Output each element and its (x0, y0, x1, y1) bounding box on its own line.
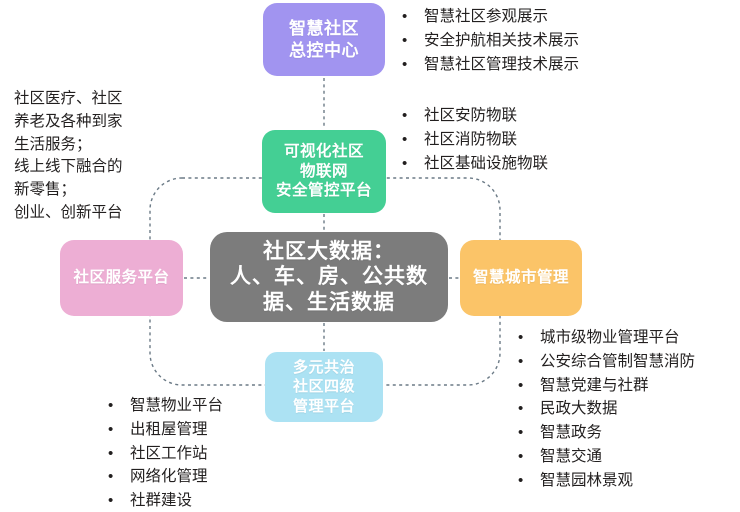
bullet-item-label: 社区基础设施物联 (424, 152, 548, 176)
bullet-dot-icon: • (402, 153, 424, 176)
node-smart-community-control-center[interactable]: 智慧社区 总控中心 (263, 3, 385, 76)
bullet-dot-icon: • (518, 470, 540, 493)
bullet-item: •城市级物业管理平台 (518, 326, 695, 350)
bullet-item: •智慧交通 (518, 445, 695, 469)
node-smart-city-management[interactable]: 智慧城市管理 (460, 240, 582, 316)
bullet-item-label: 智慧党建与社群 (540, 374, 649, 398)
bullet-dot-icon: • (518, 351, 540, 374)
bullet-item: •社区工作站 (108, 442, 223, 466)
node-label: 可视化社区 物联网 安全管控平台 (276, 142, 372, 201)
bullet-dot-icon: • (518, 327, 540, 350)
bullet-item-label: 安全护航相关技术展示 (424, 29, 579, 53)
bullet-item-label: 社区消防物联 (424, 128, 517, 152)
bullet-item-label: 社区安防物联 (424, 104, 517, 128)
node-label: 智慧城市管理 (473, 268, 569, 288)
bullet-item: •公安综合管制智慧消防 (518, 350, 695, 374)
bullet-item-label: 社区工作站 (130, 442, 208, 466)
node-label: 社区服务平台 (73, 268, 169, 288)
bullet-item: •社区基础设施物联 (402, 152, 548, 176)
bullet-item: •智慧园林景观 (518, 469, 695, 493)
bullet-item: •社区消防物联 (402, 128, 548, 152)
bullet-item: •智慧党建与社群 (518, 374, 695, 398)
bullet-dot-icon: • (108, 419, 130, 442)
bullet-item: •民政大数据 (518, 397, 695, 421)
bullet-dot-icon: • (518, 375, 540, 398)
bullet-dot-icon: • (108, 490, 130, 512)
bullet-list-governance: •智慧物业平台•出租屋管理•社区工作站•网络化管理•社群建设 (108, 394, 223, 512)
diagram-canvas: 智慧社区 总控中心 可视化社区 物联网 安全管控平台 社区服务平台 社区大数据：… (0, 0, 740, 512)
bullet-dot-icon: • (402, 30, 424, 53)
bullet-dot-icon: • (518, 446, 540, 469)
bullet-item-label: 网络化管理 (130, 465, 208, 489)
bullet-item: •安全护航相关技术展示 (402, 29, 579, 53)
bullet-item-label: 智慧社区参观展示 (424, 5, 548, 29)
bullet-dot-icon: • (402, 105, 424, 128)
bullet-dot-icon: • (108, 443, 130, 466)
bullet-item-label: 民政大数据 (540, 397, 618, 421)
bullet-dot-icon: • (402, 54, 424, 77)
bullet-item: •智慧社区参观展示 (402, 5, 579, 29)
bullet-item-label: 智慧园林景观 (540, 469, 633, 493)
bullet-item-label: 智慧政务 (540, 421, 602, 445)
bullet-item: •社群建设 (108, 489, 223, 512)
bullet-item-label: 社群建设 (130, 489, 192, 512)
bullet-list-city-management: •城市级物业管理平台•公安综合管制智慧消防•智慧党建与社群•民政大数据•智慧政务… (518, 326, 695, 493)
bullet-item-label: 智慧社区管理技术展示 (424, 53, 579, 77)
node-community-service-platform[interactable]: 社区服务平台 (60, 240, 183, 316)
node-label: 社区大数据： 人、车、房、公共数 据、生活数据 (230, 239, 428, 316)
bullet-item-label: 智慧交通 (540, 445, 602, 469)
node-visual-community-iot-security-platform[interactable]: 可视化社区 物联网 安全管控平台 (262, 130, 386, 213)
bullet-item: •智慧物业平台 (108, 394, 223, 418)
bullet-item-label: 智慧物业平台 (130, 394, 223, 418)
node-label: 智慧社区 总控中心 (289, 18, 359, 62)
bullet-item: •出租屋管理 (108, 418, 223, 442)
bullet-item: •智慧政务 (518, 421, 695, 445)
node-label: 多元共治 社区四级 管理平台 (293, 358, 355, 416)
bullet-dot-icon: • (518, 398, 540, 421)
bullet-dot-icon: • (402, 6, 424, 29)
bullet-dot-icon: • (108, 466, 130, 489)
node-multi-governance-four-level-platform[interactable]: 多元共治 社区四级 管理平台 (265, 352, 383, 422)
bullet-item: •智慧社区管理技术展示 (402, 53, 579, 77)
bullet-list-iot-platform: •社区安防物联•社区消防物联•社区基础设施物联 (402, 104, 548, 175)
bullet-item: •网络化管理 (108, 465, 223, 489)
bullet-item: •社区安防物联 (402, 104, 548, 128)
bullet-item-label: 城市级物业管理平台 (540, 326, 680, 350)
bullet-list-control-center: •智慧社区参观展示•安全护航相关技术展示•智慧社区管理技术展示 (402, 5, 579, 76)
bullet-dot-icon: • (402, 129, 424, 152)
node-community-big-data[interactable]: 社区大数据： 人、车、房、公共数 据、生活数据 (210, 232, 448, 322)
service-platform-note: 社区医疗、社区 养老及各种到家 生活服务； 线上线下融合的 新零售； 创业、创新… (14, 88, 123, 225)
bullet-dot-icon: • (518, 422, 540, 445)
bullet-item-label: 出租屋管理 (130, 418, 208, 442)
bullet-dot-icon: • (108, 395, 130, 418)
bullet-item-label: 公安综合管制智慧消防 (540, 350, 695, 374)
